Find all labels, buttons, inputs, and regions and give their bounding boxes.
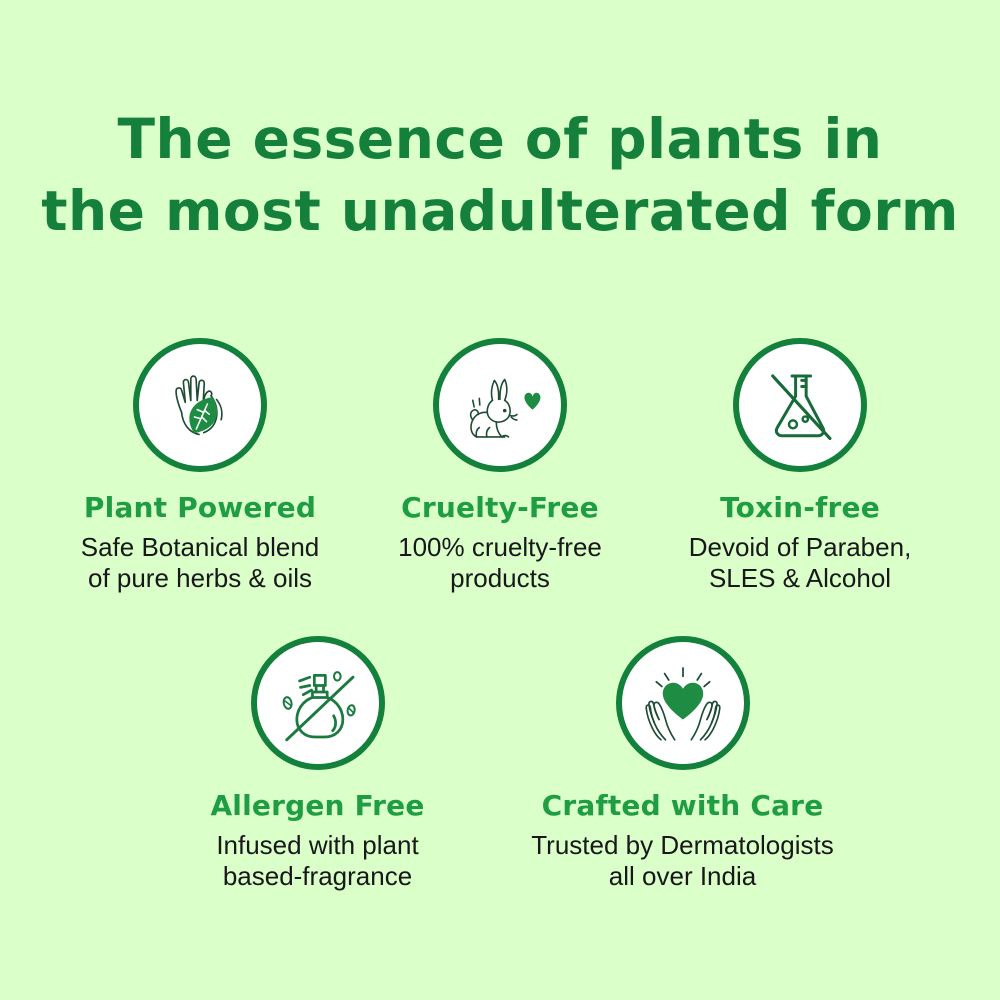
feature-description-line-1: Trusted by Dermatologists bbox=[531, 830, 833, 861]
feature-description-line-1: Safe Botanical blend bbox=[81, 532, 320, 563]
feature-description-line-2: products bbox=[398, 563, 602, 594]
feature-description-line-2: based-fragrance bbox=[216, 861, 418, 892]
feature-description-line-1: Devoid of Paraben, bbox=[689, 532, 912, 563]
feature-description: Devoid of Paraben, SLES & Alcohol bbox=[689, 532, 912, 594]
badge-plant-powered bbox=[133, 338, 267, 472]
heart-shape bbox=[524, 393, 540, 410]
promo-graphic: The essence of plants in the most unadul… bbox=[0, 0, 1000, 1000]
feature-title: Toxin-free bbox=[720, 491, 880, 525]
hand-leaf-icon bbox=[154, 359, 246, 451]
no-spray-bottle-icon bbox=[272, 657, 364, 749]
no-flask-icon bbox=[756, 361, 844, 449]
feature-plant-powered: Plant Powered Safe Botanical blend of pu… bbox=[50, 338, 350, 594]
badge-cruelty-free bbox=[433, 338, 567, 472]
rabbit-eye bbox=[503, 409, 507, 413]
feature-title: Cruelty-Free bbox=[401, 491, 599, 525]
feature-description-line-2: SLES & Alcohol bbox=[689, 563, 912, 594]
page-title: The essence of plants in the most unadul… bbox=[0, 103, 1000, 247]
feature-title: Allergen Free bbox=[210, 789, 424, 823]
feature-title: Crafted with Care bbox=[542, 789, 824, 823]
badge-allergen-free bbox=[251, 636, 385, 770]
feature-description: 100% cruelty-free products bbox=[398, 532, 602, 594]
feature-description-line-1: Infused with plant bbox=[216, 830, 418, 861]
feature-description: Infused with plant based-fragrance bbox=[216, 830, 418, 892]
feature-allergen-free: Allergen Free Infused with plant based-f… bbox=[135, 636, 500, 892]
page-title-line-2: the most unadulterated form bbox=[0, 175, 1000, 247]
feature-row-top: Plant Powered Safe Botanical blend of pu… bbox=[0, 338, 1000, 594]
heart-shape bbox=[662, 683, 702, 720]
feature-title: Plant Powered bbox=[84, 491, 316, 525]
feature-cruelty-free: Cruelty-Free 100% cruelty-free products bbox=[350, 338, 650, 594]
rabbit-heart-icon bbox=[453, 358, 547, 452]
hands-heart-icon bbox=[637, 657, 729, 749]
feature-row-bottom: Allergen Free Infused with plant based-f… bbox=[0, 636, 1000, 892]
badge-toxin-free bbox=[733, 338, 867, 472]
feature-description-line-2: of pure herbs & oils bbox=[81, 563, 320, 594]
feature-description: Safe Botanical blend of pure herbs & oil… bbox=[81, 532, 320, 594]
page-title-line-1: The essence of plants in bbox=[0, 103, 1000, 175]
feature-toxin-free: Toxin-free Devoid of Paraben, SLES & Alc… bbox=[650, 338, 950, 594]
feature-description: Trusted by Dermatologists all over India bbox=[531, 830, 833, 892]
feature-crafted-with-care: Crafted with Care Trusted by Dermatologi… bbox=[500, 636, 865, 892]
badge-crafted-with-care bbox=[616, 636, 750, 770]
feature-description-line-1: 100% cruelty-free bbox=[398, 532, 602, 563]
feature-description-line-2: all over India bbox=[531, 861, 833, 892]
